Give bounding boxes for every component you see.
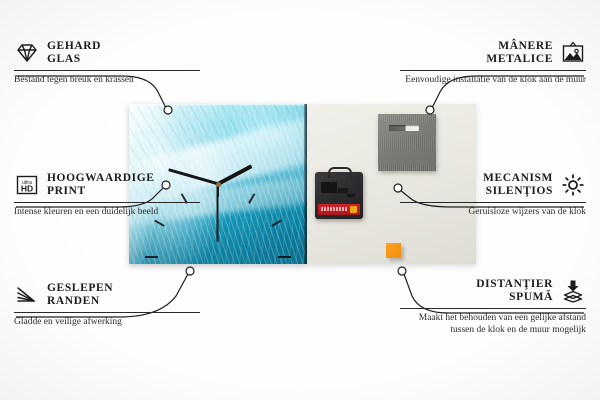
feature-divider	[14, 202, 200, 203]
feature-divider	[400, 70, 586, 71]
feature-title-line1: HOOGWAARDIGE	[47, 172, 155, 185]
feature-title-line2: METALICE	[486, 53, 553, 66]
mounting-plate-slot	[389, 125, 419, 131]
battery-label	[321, 207, 347, 211]
feature-description: Bestand tegen breuk en krassen	[14, 75, 200, 87]
feature-description: Intense kleuren en een duidelijk beeld	[14, 207, 200, 219]
metal-mounting-plate	[378, 114, 436, 171]
clock-hour-hand	[217, 164, 252, 185]
battery	[318, 204, 360, 215]
clock-tick-10	[154, 220, 165, 227]
press-layers-icon	[560, 278, 586, 304]
feature-divider	[400, 202, 586, 203]
feature-title-line1: GESLEPEN	[47, 282, 113, 295]
picture-hanger-icon	[560, 40, 586, 66]
feature-description: Eenvoudige installatie van de klok aan d…	[400, 75, 586, 87]
feature-head: MÂNERE METALICE	[400, 40, 586, 66]
feature-ground-edges: GESLEPEN RANDEN Gladde en veilige afwerk…	[14, 282, 200, 329]
clock-tick-9	[145, 256, 158, 258]
product-feature-infographic: GEHARD GLAS Bestand tegen breuk en krass…	[0, 0, 600, 400]
feature-divider	[14, 70, 200, 71]
feature-head: DISTANŢIER SPUMĂ	[400, 278, 586, 304]
feature-metal-handles: MÂNERE METALICE Eenvoudige installatie v…	[400, 40, 586, 87]
panel-top-edge	[129, 104, 307, 106]
feature-title-line2: PRINT	[47, 185, 155, 198]
feature-high-quality-print: ultra HD HOOGWAARDIGE PRINT Intense kleu…	[14, 172, 200, 219]
clock-mechanism	[315, 172, 363, 219]
feature-divider	[14, 312, 200, 313]
feature-head: MECANISM SILENŢIOS	[400, 172, 586, 198]
feature-title: MÂNERE METALICE	[486, 40, 553, 66]
feature-title: GEHARD GLAS	[47, 40, 101, 66]
feature-head: ultra HD HOOGWAARDIGE PRINT	[14, 172, 200, 198]
clock-tick-2	[271, 220, 282, 227]
feature-tempered-glass: GEHARD GLAS Bestand tegen breuk en krass…	[14, 40, 200, 87]
feature-head: GEHARD GLAS	[14, 40, 200, 66]
foam-spacer	[386, 243, 401, 258]
connector-dot-spacer	[398, 267, 406, 275]
feature-foam-spacer: DISTANŢIER SPUMĂ Maakt het behouden van …	[400, 278, 586, 336]
mechanism-detail	[321, 182, 337, 193]
feature-title-line1: MECANISM	[483, 172, 553, 185]
feature-title: HOOGWAARDIGE PRINT	[47, 172, 155, 198]
feature-title-line2: SILENŢIOS	[483, 185, 553, 198]
mechanism-hanger-loop	[328, 167, 352, 178]
feature-title-line2: RANDEN	[47, 295, 113, 308]
feature-title-line2: GLAS	[47, 53, 101, 66]
diamond-icon	[14, 40, 40, 66]
feature-title: DISTANŢIER SPUMĂ	[476, 278, 553, 304]
feature-title-line1: GEHARD	[47, 40, 101, 53]
feature-title-line2: SPUMĂ	[476, 291, 553, 304]
clock-tick-1	[248, 193, 255, 204]
clock-tick-3	[278, 256, 291, 258]
feature-title: MECANISM SILENŢIOS	[483, 172, 553, 198]
bevel-edges-icon	[14, 282, 40, 308]
feature-description: Gladde en veilige afwerking	[14, 317, 200, 329]
feature-title-line1: DISTANŢIER	[476, 278, 553, 291]
feature-divider	[400, 308, 586, 309]
svg-text:HD: HD	[21, 184, 33, 194]
feature-description: Geruisloze wijzers van de klok	[400, 207, 586, 219]
feature-title: GESLEPEN RANDEN	[47, 282, 113, 308]
clock-center-cap	[216, 182, 221, 187]
feature-head: GESLEPEN RANDEN	[14, 282, 200, 308]
gear-icon	[560, 172, 586, 198]
ultra-hd-icon: ultra HD	[14, 172, 40, 198]
connector-dot-edges	[186, 267, 194, 275]
feature-silent-mechanism: MECANISM SILENŢIOS Geruisloze wijzers va…	[400, 172, 586, 219]
feature-description: Maakt het behouden van een gelijke afsta…	[400, 313, 586, 336]
feature-title-line1: MÂNERE	[486, 40, 553, 53]
